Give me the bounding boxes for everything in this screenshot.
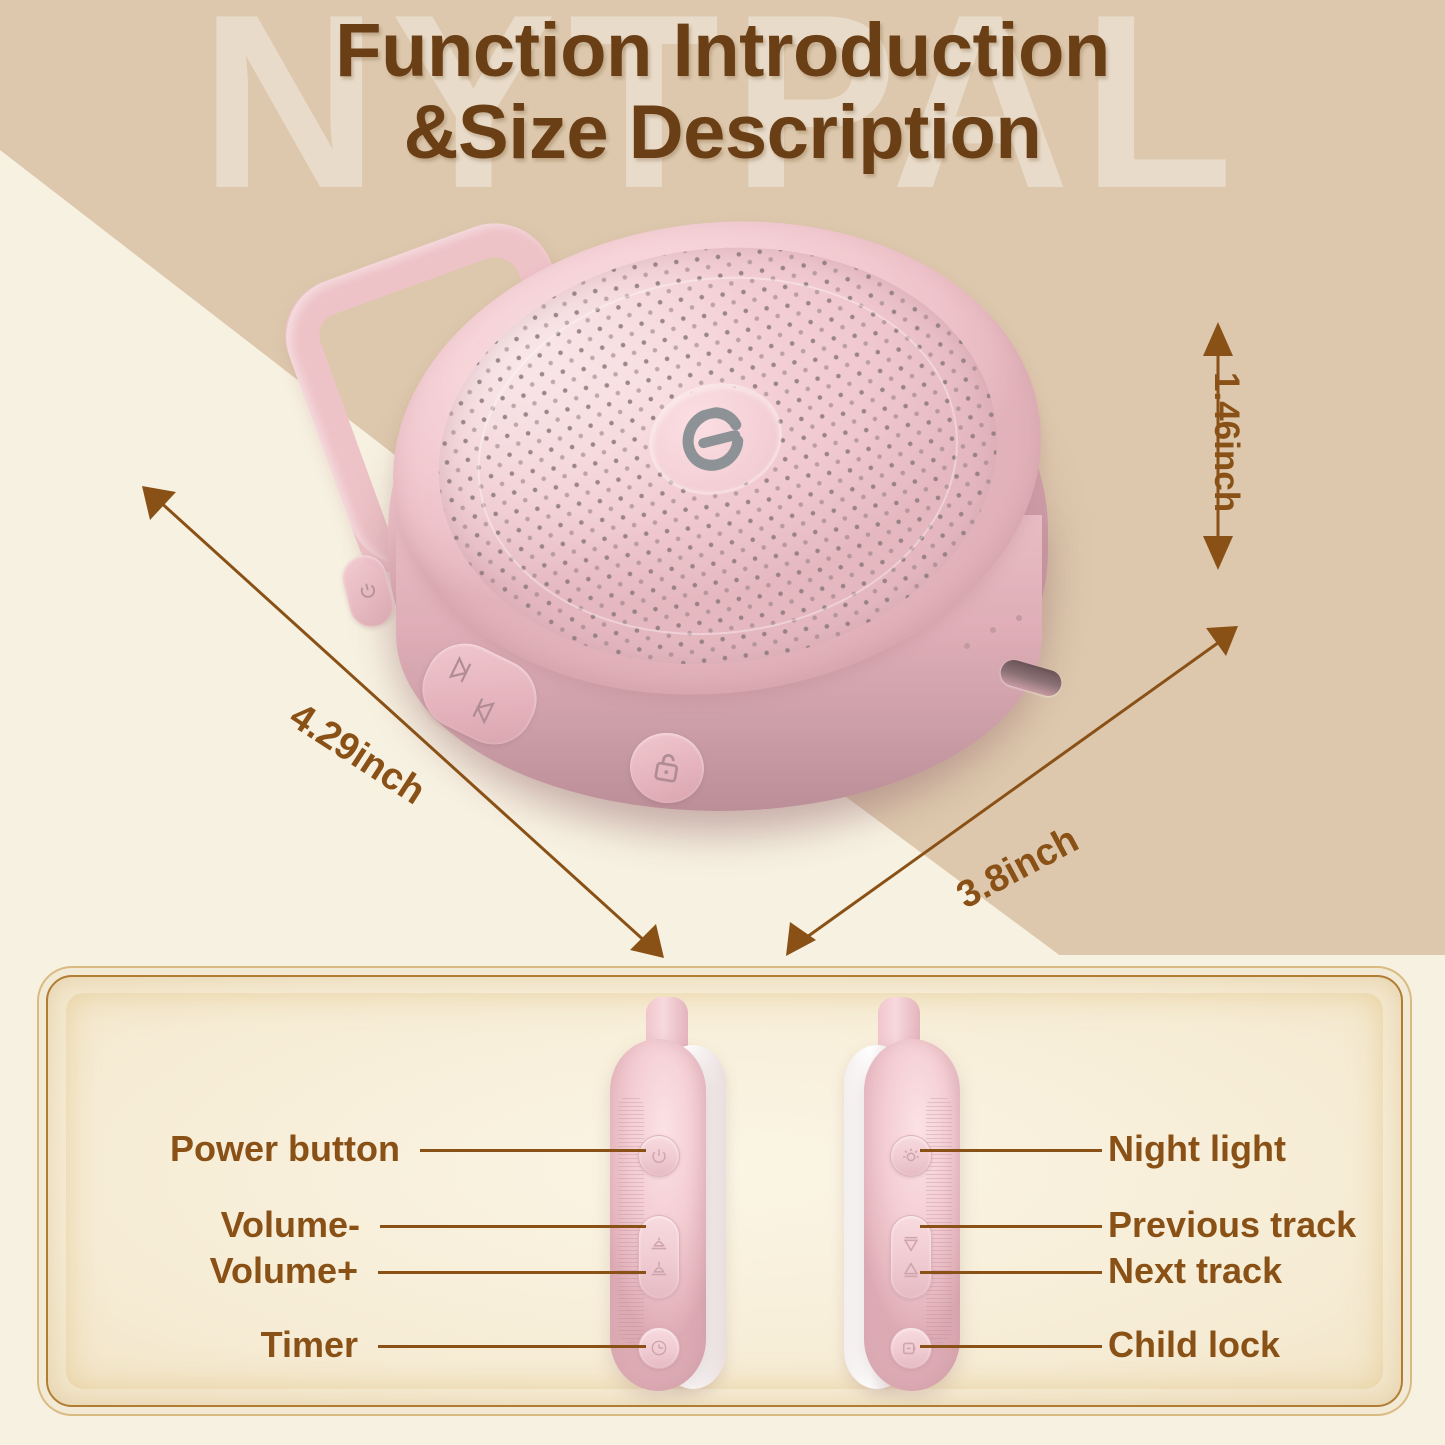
mic-hole-1 (964, 643, 970, 649)
label-child-lock: Child lock (1108, 1324, 1280, 1366)
label-volume-up: Volume+ (210, 1250, 358, 1292)
mic-hole-3 (1016, 615, 1022, 621)
page-title: Function Introduction &Size Description (0, 10, 1445, 174)
label-volume-down: Volume- (221, 1204, 360, 1246)
device-side-view-right (840, 997, 966, 1389)
power-icon (356, 579, 380, 603)
label-next-track: Next track (1108, 1250, 1282, 1292)
leader-line-volume-up (378, 1271, 646, 1274)
timer-button[interactable] (638, 1327, 680, 1369)
leader-line-timer (378, 1345, 646, 1348)
side-view-texture-right (926, 1095, 952, 1343)
side-view-pink-shell-left (610, 1039, 706, 1391)
leader-line-power (420, 1149, 646, 1152)
child-lock-icon (649, 749, 684, 788)
product-hero-image (300, 215, 1130, 835)
leader-line-night-light (920, 1149, 1102, 1152)
device-side-view-left (604, 997, 730, 1389)
side-view-pink-shell-right (864, 1039, 960, 1391)
label-timer: Timer (261, 1324, 358, 1366)
infographic-canvas: NYTPAL Function Introduction &Size Descr… (0, 0, 1445, 1445)
previous-track-icon (900, 1234, 922, 1254)
title-line-2: &Size Description (0, 92, 1445, 174)
power-icon (649, 1146, 669, 1166)
volume-up-icon (648, 1260, 670, 1280)
leader-line-child-lock (920, 1345, 1102, 1348)
night-light-icon (900, 1145, 922, 1167)
mic-hole-2 (990, 627, 996, 633)
leader-line-next-track (920, 1271, 1102, 1274)
volume-down-icon (648, 1234, 670, 1254)
dimension-label-height: 1.46inch (1206, 372, 1246, 512)
feature-legend-panel: Power button Volume- Volume+ Timer Night… (46, 975, 1403, 1407)
timer-icon (649, 1338, 669, 1358)
title-line-1: Function Introduction (335, 8, 1110, 93)
power-button[interactable] (638, 1135, 680, 1177)
label-night-light: Night light (1108, 1128, 1286, 1170)
speaker-grille (415, 216, 1021, 695)
leader-line-previous-track (920, 1225, 1102, 1228)
child-lock-icon (900, 1338, 922, 1358)
side-view-texture-left (618, 1095, 644, 1343)
child-lock-button[interactable] (890, 1327, 932, 1369)
next-track-icon (900, 1260, 922, 1280)
leader-line-volume-down (380, 1225, 646, 1228)
label-power-button: Power button (170, 1128, 400, 1170)
night-light-button[interactable] (890, 1135, 932, 1177)
label-previous-track: Previous track (1108, 1204, 1356, 1246)
